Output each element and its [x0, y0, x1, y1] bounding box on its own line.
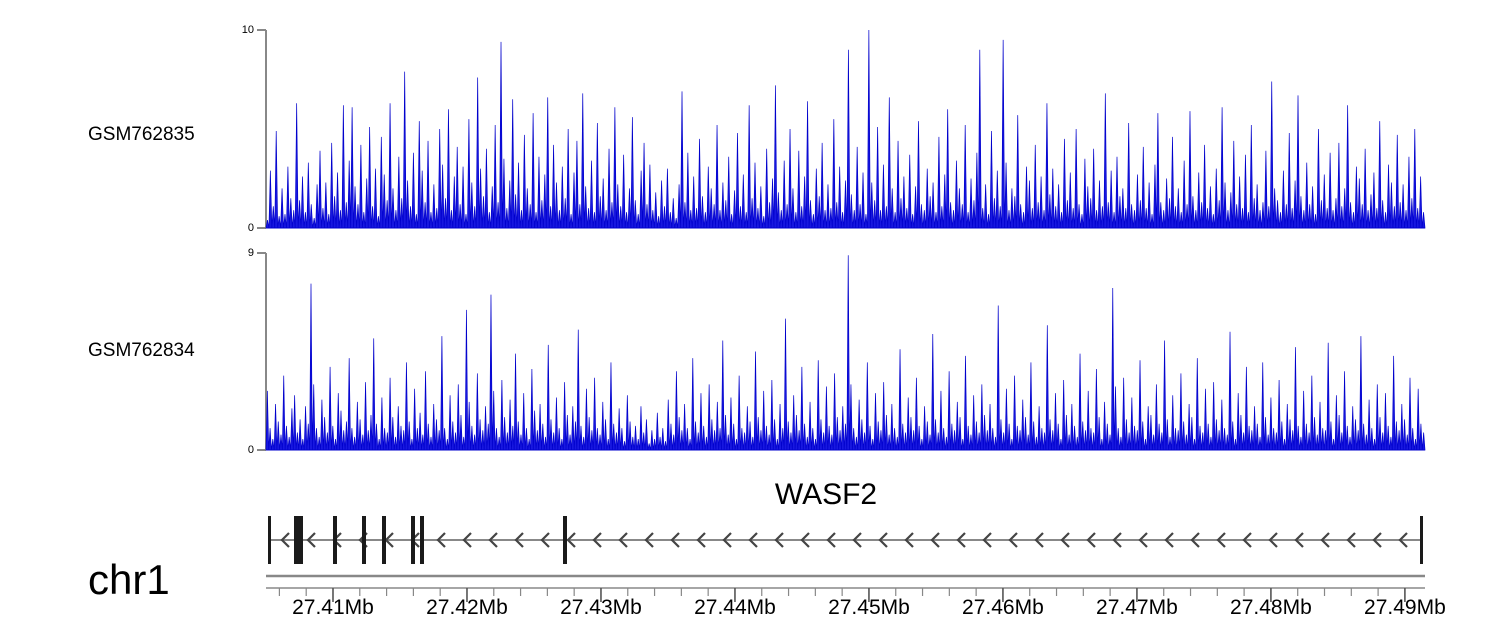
- genome-browser-view: GSM762835 GSM762834 chr1 WASF2 10090 27.…: [0, 0, 1500, 640]
- axis-tick-label: 27.44Mb: [694, 596, 776, 620]
- tracks-svg: [0, 0, 1500, 640]
- y-axis-min-label: 0: [248, 444, 254, 456]
- axis-tick-label: 27.47Mb: [1096, 596, 1178, 620]
- y-axis-max-label: 9: [248, 247, 254, 259]
- axis-tick-label: 27.42Mb: [426, 596, 508, 620]
- y-axis-max-label: 10: [242, 24, 254, 36]
- track-label-gsm762835: GSM762835: [88, 124, 195, 146]
- axis-tick-label: 27.41Mb: [292, 596, 374, 620]
- gene-annotation-track[interactable]: [268, 516, 1423, 564]
- axis-tick-label: 27.46Mb: [962, 596, 1044, 620]
- axis-tick-label: 27.43Mb: [560, 596, 642, 620]
- data-track-gsm762835: [257, 30, 1425, 228]
- y-axis-min-label: 0: [248, 222, 254, 234]
- data-track-gsm762834: [257, 253, 1425, 450]
- axis-tick-label: 27.48Mb: [1230, 596, 1312, 620]
- track-label-gsm762834: GSM762834: [88, 340, 195, 362]
- chromosome-label: chr1: [88, 556, 170, 604]
- axis-tick-label: 27.49Mb: [1364, 596, 1446, 620]
- axis-tick-label: 27.45Mb: [828, 596, 910, 620]
